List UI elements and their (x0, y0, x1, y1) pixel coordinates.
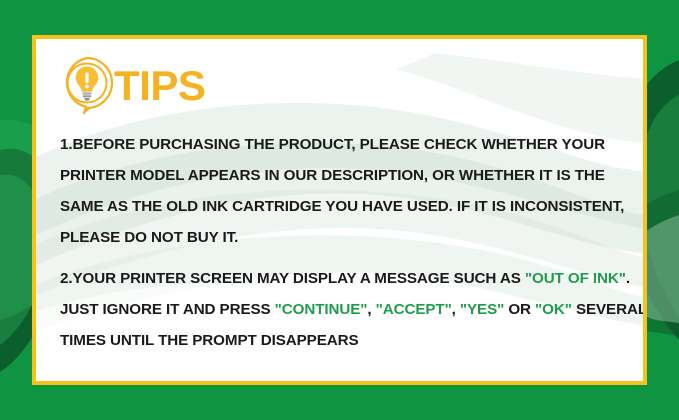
tip-text-run: JUST IGNORE IT AND PRESS (60, 301, 275, 318)
tip-paragraph-2: 2.YOUR PRINTER SCREEN MAY DISPLAY A MESS… (60, 263, 625, 356)
tip-line: PLEASE DO NOT BUY IT. (60, 222, 625, 253)
tip-text-run: PRINTER MODEL APPEARS IN OUR DESCRIPTION… (60, 167, 605, 184)
tip-text-run: SEVERAL (572, 301, 647, 318)
tip-text-run: , (452, 301, 460, 318)
tips-header: TIPS (56, 53, 625, 115)
tips-card: TIPS 1.BEFORE PURCHASING THE PRODUCT, PL… (32, 35, 647, 385)
tip-keyword-accept: "ACCEPT" (376, 301, 452, 318)
tip-line: JUST IGNORE IT AND PRESS "CONTINUE", "AC… (60, 294, 625, 325)
tip-keyword-out-of-ink: "OUT OF INK" (525, 270, 626, 287)
tip-keyword-continue: "CONTINUE" (275, 301, 368, 318)
tip-text-run: , (367, 301, 375, 318)
tip-text-run: PLEASE DO NOT BUY IT. (60, 229, 238, 246)
tip-text-run: 1.BEFORE PURCHASING THE PRODUCT, PLEASE … (60, 136, 605, 153)
tip-text-run: TIMES UNTIL THE PROMPT DISAPPEARS (60, 332, 359, 349)
speech-bubble-lightbulb-icon (56, 53, 118, 115)
tip-keyword-ok: "OK" (535, 301, 572, 318)
tips-badge-svg (56, 53, 118, 115)
card-content: TIPS 1.BEFORE PURCHASING THE PRODUCT, PL… (36, 39, 643, 356)
tip-text-run: SAME AS THE OLD INK CARTRIDGE YOU HAVE U… (60, 198, 624, 215)
tip-paragraph-1: 1.BEFORE PURCHASING THE PRODUCT, PLEASE … (60, 129, 625, 253)
tips-infographic: TIPS 1.BEFORE PURCHASING THE PRODUCT, PL… (0, 0, 679, 420)
tip-text-run: . (626, 270, 630, 287)
tip-keyword-yes: "YES" (460, 301, 504, 318)
tip-line: SAME AS THE OLD INK CARTRIDGE YOU HAVE U… (60, 191, 625, 222)
page-title: TIPS (114, 65, 205, 107)
tip-line: TIMES UNTIL THE PROMPT DISAPPEARS (60, 325, 625, 356)
tip-line: 2.YOUR PRINTER SCREEN MAY DISPLAY A MESS… (60, 263, 625, 294)
tip-line: PRINTER MODEL APPEARS IN OUR DESCRIPTION… (60, 160, 625, 191)
tips-body: 1.BEFORE PURCHASING THE PRODUCT, PLEASE … (50, 129, 625, 356)
tip-line: 1.BEFORE PURCHASING THE PRODUCT, PLEASE … (60, 129, 625, 160)
tip-text-run: OR (504, 301, 535, 318)
tip-text-run: 2.YOUR PRINTER SCREEN MAY DISPLAY A MESS… (60, 270, 525, 287)
